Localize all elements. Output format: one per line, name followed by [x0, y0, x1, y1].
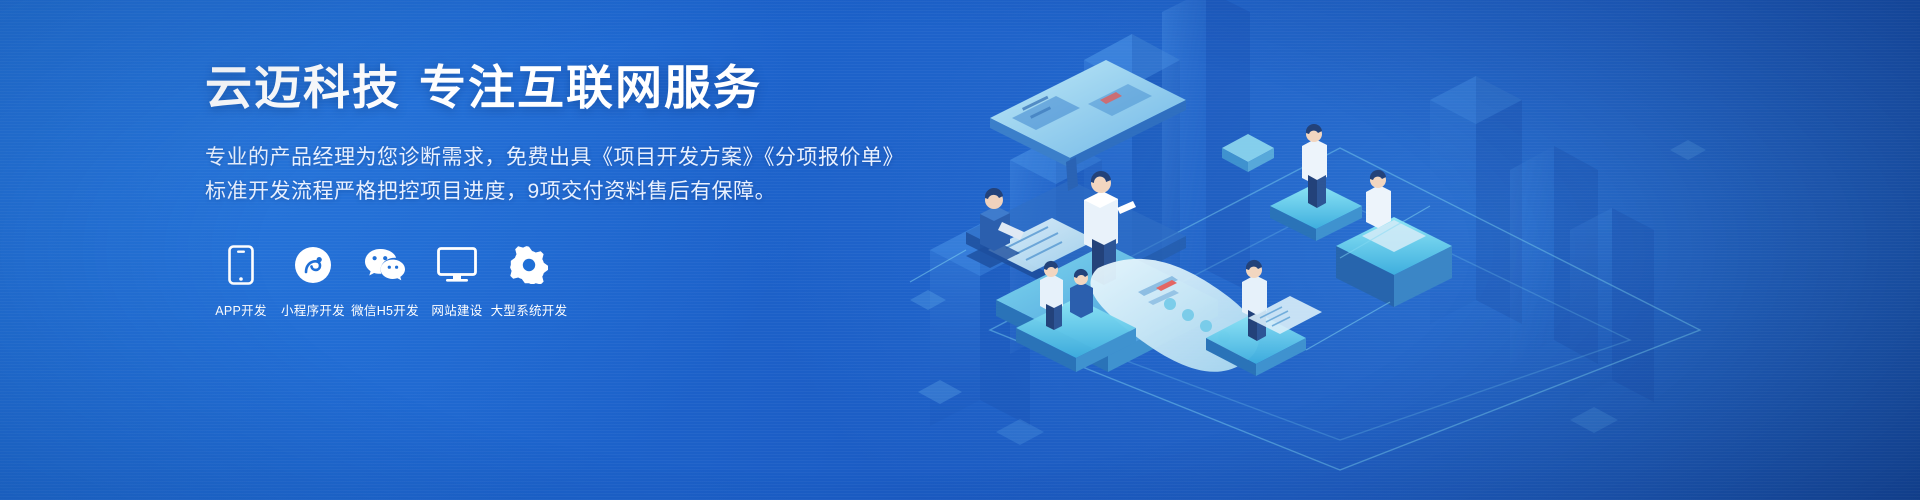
wechat-icon: [364, 243, 406, 287]
gear-icon: [510, 243, 548, 287]
service-item-mini-program[interactable]: 小程序开发: [277, 243, 349, 319]
page-title: 云迈科技专注互联网服务: [205, 62, 965, 115]
service-label: 微信H5开发: [351, 300, 419, 319]
subtitle-line-2: 标准开发流程严格把控项目进度，9项交付资料售后有保障。: [205, 175, 965, 209]
service-item-app[interactable]: APP开发: [205, 243, 277, 319]
mini-program-icon: [294, 243, 332, 287]
service-label: 网站建设: [431, 300, 482, 319]
service-label: APP开发: [215, 300, 267, 319]
headline-brand: 云迈科技: [205, 61, 401, 114]
service-item-large-system[interactable]: 大型系统开发: [493, 243, 565, 319]
monitor-icon: [437, 243, 477, 287]
subtitle-line-1: 专业的产品经理为您诊断需求，免费出具《项目开发方案》《分项报价单》: [205, 141, 965, 175]
service-list: APP开发 小程序开发: [205, 243, 965, 319]
service-item-wechat-h5[interactable]: 微信H5开发: [349, 243, 421, 319]
banner-content: 云迈科技专注互联网服务 专业的产品经理为您诊断需求，免费出具《项目开发方案》《分…: [205, 62, 965, 319]
service-label: 小程序开发: [281, 300, 345, 319]
mobile-phone-icon: [228, 243, 254, 287]
headline-tagline: 专注互联网服务: [419, 61, 762, 114]
service-label: 大型系统开发: [491, 300, 568, 319]
service-item-website[interactable]: 网站建设: [421, 243, 493, 319]
hero-banner: 云迈科技专注互联网服务 专业的产品经理为您诊断需求，免费出具《项目开发方案》《分…: [0, 0, 1920, 500]
isometric-illustration: [870, 0, 1920, 500]
